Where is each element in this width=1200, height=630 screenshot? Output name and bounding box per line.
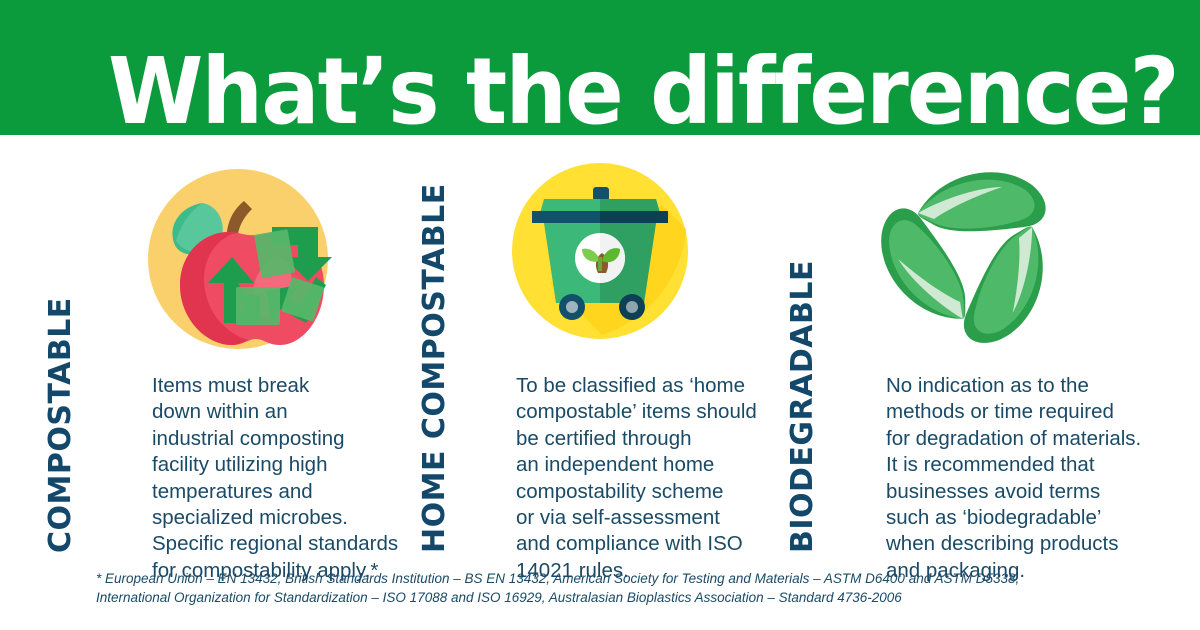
footnote-standards: * European Union – EN 13432, British Sta…: [96, 570, 1156, 607]
column-home-compostable: HOME COMPOSTABLE: [452, 135, 782, 565]
apple-recycle-icon: [140, 161, 336, 362]
column-compostable: COMPOSTABLE: [78, 135, 428, 565]
page-title: What’s the difference?: [108, 46, 1178, 138]
column-label-biodegradable: BIODEGRADABLE: [785, 260, 820, 553]
column-body-compostable: Items must break down within an industri…: [152, 373, 420, 584]
header-band: What’s the difference?: [0, 0, 1200, 135]
column-label-home-compostable: HOME COMPOSTABLE: [417, 183, 452, 553]
leaf-recycle-icon: [878, 161, 1064, 348]
column-body-biodegradable: No indication as to the methods or time …: [886, 373, 1148, 584]
compost-bin-icon: [510, 161, 690, 346]
column-body-home-compostable: To be classified as ‘home compostable’ i…: [516, 373, 778, 584]
column-label-compostable: COMPOSTABLE: [43, 297, 78, 553]
comparison-columns: COMPOSTABLE: [0, 135, 1200, 565]
column-biodegradable: BIODEGRADABLE: [820, 135, 1150, 565]
